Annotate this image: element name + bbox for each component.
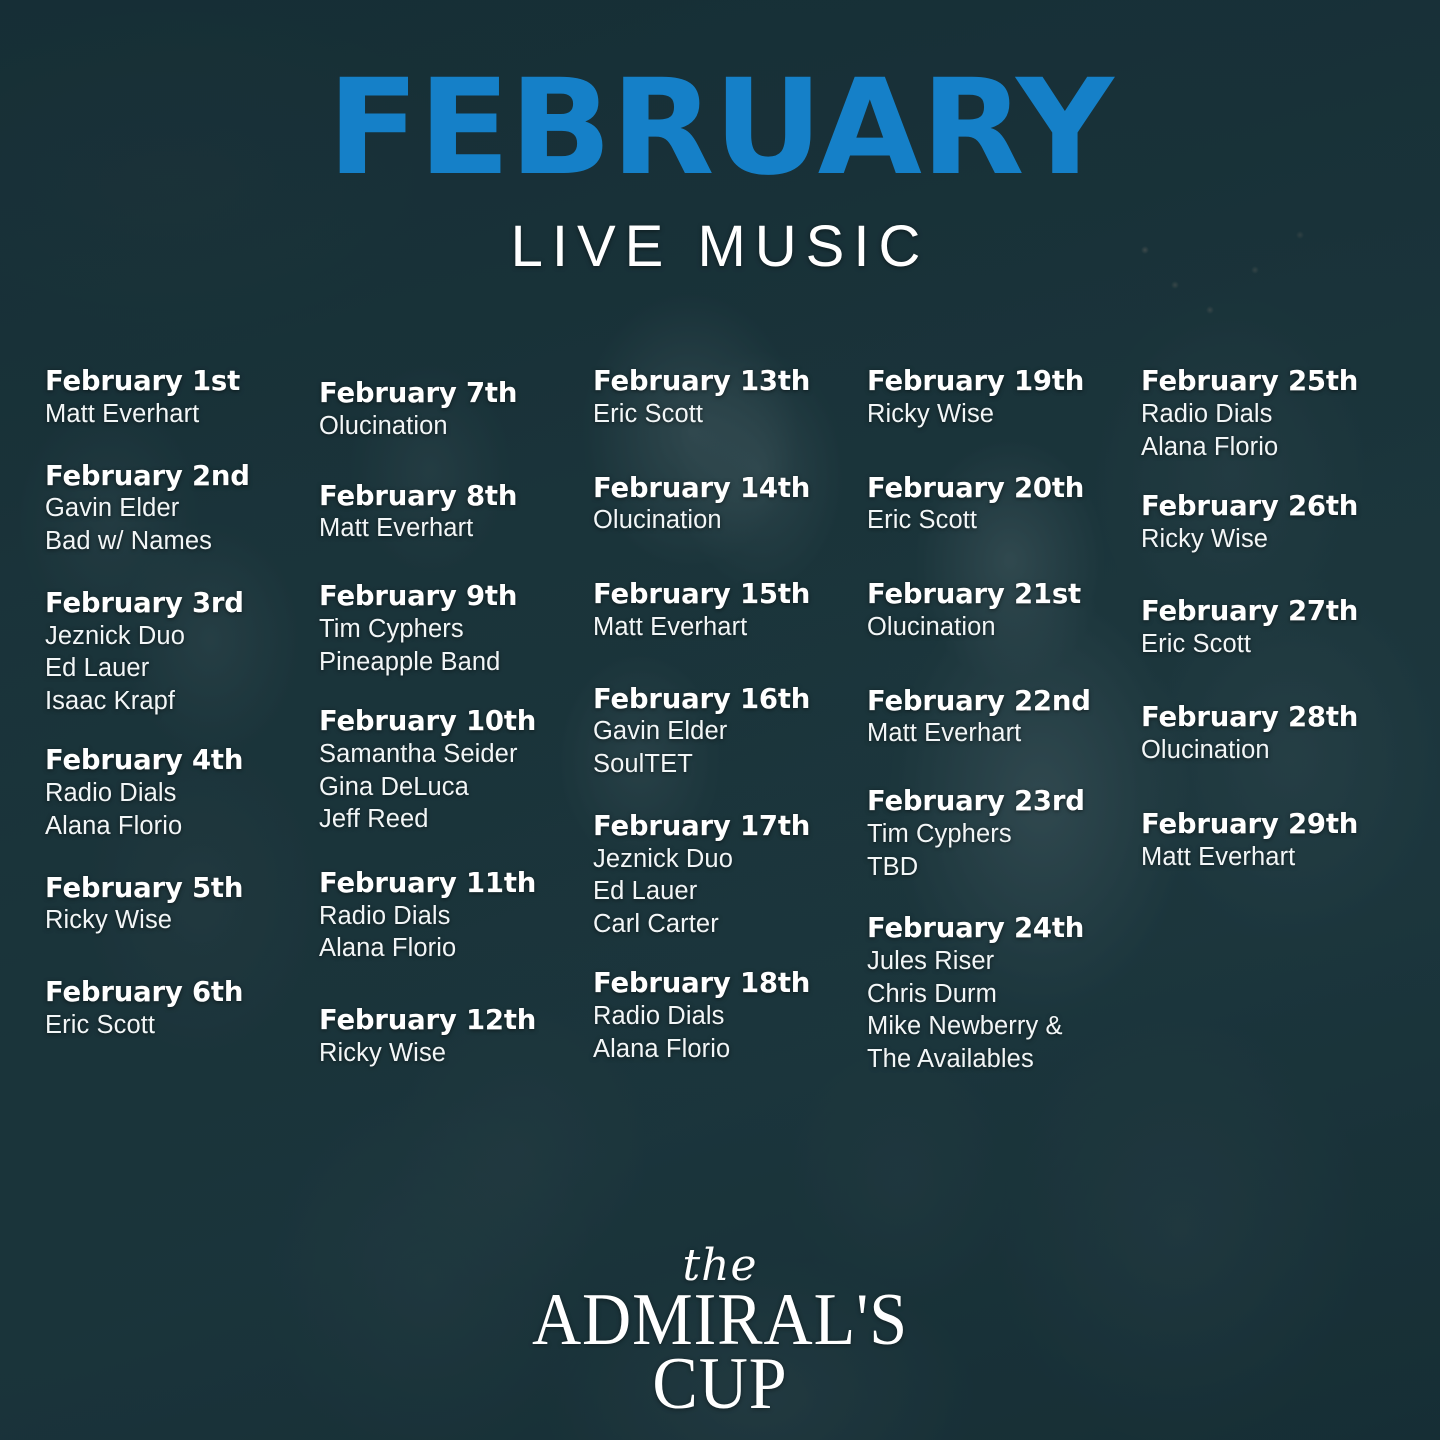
entry-act: Pineapple Band — [319, 646, 593, 679]
entry-act: Eric Scott — [593, 398, 867, 431]
entry-date: February 16th — [593, 684, 867, 716]
schedule-entry[interactable]: February 29thMatt Everhart — [1141, 809, 1415, 874]
schedule-entry[interactable]: February 17thJeznick DuoEd LauerCarl Car… — [593, 811, 867, 941]
schedule-entry[interactable]: February 25thRadio DialsAlana Florio — [1141, 366, 1415, 463]
entry-act: Matt Everhart — [593, 611, 867, 644]
entry-act: Chris Durm — [867, 978, 1141, 1011]
entry-date: February 5th — [45, 873, 319, 905]
entry-act: Radio Dials — [319, 900, 593, 933]
entry-act: Gavin Elder — [593, 715, 867, 748]
entry-act: Eric Scott — [867, 504, 1141, 537]
entry-date: February 18th — [593, 968, 867, 1000]
entry-act: Ricky Wise — [45, 904, 319, 937]
entry-date: February 10th — [319, 706, 593, 738]
entry-act: Bad w/ Names — [45, 525, 319, 558]
entry-act: TBD — [867, 851, 1141, 884]
schedule-entry[interactable]: February 13thEric Scott — [593, 366, 867, 431]
entry-act: Olucination — [593, 504, 867, 537]
entry-date: February 20th — [867, 473, 1141, 505]
entry-act: Jules Riser — [867, 945, 1141, 978]
schedule-entry[interactable]: February 4thRadio DialsAlana Florio — [45, 745, 319, 842]
schedule-entry[interactable]: February 9thTim CyphersPineapple Band — [319, 581, 593, 678]
schedule-entry[interactable]: February 15thMatt Everhart — [593, 579, 867, 644]
entry-act: Jeznick Duo — [593, 843, 867, 876]
entry-act: SoulTET — [593, 748, 867, 781]
entry-act: Matt Everhart — [319, 512, 593, 545]
entry-date: February 24th — [867, 913, 1141, 945]
schedule-entry[interactable]: February 12thRicky Wise — [319, 1005, 593, 1070]
entry-act: Radio Dials — [593, 1000, 867, 1033]
entry-date: February 3rd — [45, 588, 319, 620]
entry-date: February 19th — [867, 366, 1141, 398]
schedule-entry[interactable]: February 22ndMatt Everhart — [867, 686, 1141, 751]
schedule-entry[interactable]: February 14thOlucination — [593, 473, 867, 538]
page-title: FEBRUARY — [0, 62, 1440, 194]
entry-act: Isaac Krapf — [45, 685, 319, 718]
schedule-entry[interactable]: February 7thOlucination — [319, 378, 593, 443]
entry-act: Olucination — [319, 410, 593, 443]
entry-act: The Availables — [867, 1043, 1141, 1076]
entry-date: February 14th — [593, 473, 867, 505]
entry-act: Carl Carter — [593, 908, 867, 941]
entry-date: February 9th — [319, 581, 593, 613]
entry-date: February 21st — [867, 579, 1141, 611]
schedule-entry[interactable]: February 21stOlucination — [867, 579, 1141, 644]
page-subtitle: LIVE MUSIC — [0, 218, 1440, 276]
schedule-entry[interactable]: February 8thMatt Everhart — [319, 481, 593, 546]
schedule-column-5: February 25thRadio DialsAlana FlorioFebr… — [1141, 366, 1415, 1076]
schedule-entry[interactable]: February 24thJules RiserChris DurmMike N… — [867, 913, 1141, 1075]
schedule-column-3: February 13thEric ScottFebruary 14thOluc… — [593, 366, 867, 1076]
entry-date: February 26th — [1141, 491, 1415, 523]
entry-act: Ed Lauer — [593, 875, 867, 908]
schedule-entry[interactable]: February 23rdTim CyphersTBD — [867, 786, 1141, 883]
entry-act: Jeznick Duo — [45, 620, 319, 653]
entry-act: Ricky Wise — [319, 1037, 593, 1070]
entry-date: February 6th — [45, 977, 319, 1009]
entry-date: February 11th — [319, 868, 593, 900]
schedule-entry[interactable]: February 19thRicky Wise — [867, 366, 1141, 431]
entry-act: Gavin Elder — [45, 492, 319, 525]
entry-date: February 29th — [1141, 809, 1415, 841]
schedule-entry[interactable]: February 20thEric Scott — [867, 473, 1141, 538]
schedule-entry[interactable]: February 2ndGavin ElderBad w/ Names — [45, 461, 319, 558]
header: FEBRUARY LIVE MUSIC — [0, 0, 1440, 276]
entry-date: February 22nd — [867, 686, 1141, 718]
schedule-entry[interactable]: February 18thRadio DialsAlana Florio — [593, 968, 867, 1065]
venue-logo: the ADMIRAL'S CUP — [0, 1245, 1440, 1419]
schedule-entry[interactable]: February 3rdJeznick DuoEd LauerIsaac Kra… — [45, 588, 319, 718]
logo-cup-text: CUP — [58, 1349, 1383, 1419]
entry-act: Matt Everhart — [1141, 841, 1415, 874]
entry-act: Ricky Wise — [867, 398, 1141, 431]
entry-date: February 8th — [319, 481, 593, 513]
entry-act: Radio Dials — [45, 777, 319, 810]
entry-act: Alana Florio — [593, 1033, 867, 1066]
schedule-entry[interactable]: February 28thOlucination — [1141, 702, 1415, 767]
entry-act: Alana Florio — [319, 932, 593, 965]
entry-act: Alana Florio — [45, 810, 319, 843]
entry-date: February 28th — [1141, 702, 1415, 734]
entry-date: February 12th — [319, 1005, 593, 1037]
schedule-entry[interactable]: February 6thEric Scott — [45, 977, 319, 1042]
entry-act: Eric Scott — [1141, 628, 1415, 661]
schedule-column-2: February 7thOlucinationFebruary 8thMatt … — [319, 366, 593, 1076]
entry-date: February 27th — [1141, 596, 1415, 628]
entry-act: Ed Lauer — [45, 652, 319, 685]
schedule-grid: February 1stMatt EverhartFebruary 2ndGav… — [45, 366, 1415, 1076]
entry-date: February 13th — [593, 366, 867, 398]
entry-date: February 1st — [45, 366, 319, 398]
entry-act: Radio Dials — [1141, 398, 1415, 431]
schedule-entry[interactable]: February 26thRicky Wise — [1141, 491, 1415, 556]
schedule-entry[interactable]: February 5thRicky Wise — [45, 873, 319, 938]
entry-date: February 15th — [593, 579, 867, 611]
schedule-entry[interactable]: February 10thSamantha SeiderGina DeLucaJ… — [319, 706, 593, 836]
entry-date: February 17th — [593, 811, 867, 843]
entry-date: February 25th — [1141, 366, 1415, 398]
schedule-entry[interactable]: February 1stMatt Everhart — [45, 366, 319, 431]
schedule-column-4: February 19thRicky WiseFebruary 20thEric… — [867, 366, 1141, 1076]
entry-act: Mike Newberry & — [867, 1010, 1141, 1043]
schedule-column-1: February 1stMatt EverhartFebruary 2ndGav… — [45, 366, 319, 1076]
entry-act: Tim Cyphers — [319, 613, 593, 646]
entry-act: Olucination — [867, 611, 1141, 644]
entry-act: Gina DeLuca — [319, 771, 593, 804]
entry-date: February 4th — [45, 745, 319, 777]
schedule-entry[interactable]: February 16thGavin ElderSoulTET — [593, 684, 867, 781]
entry-act: Samantha Seider — [319, 738, 593, 771]
entry-act: Tim Cyphers — [867, 818, 1141, 851]
entry-date: February 2nd — [45, 461, 319, 493]
entry-date: February 23rd — [867, 786, 1141, 818]
entry-date: February 7th — [319, 378, 593, 410]
schedule-entry[interactable]: February 11thRadio DialsAlana Florio — [319, 868, 593, 965]
entry-act: Alana Florio — [1141, 431, 1415, 464]
entry-act: Matt Everhart — [45, 398, 319, 431]
schedule-entry[interactable]: February 27thEric Scott — [1141, 596, 1415, 661]
entry-act: Eric Scott — [45, 1009, 319, 1042]
entry-act: Matt Everhart — [867, 717, 1141, 750]
entry-act: Jeff Reed — [319, 803, 593, 836]
entry-act: Ricky Wise — [1141, 523, 1415, 556]
entry-act: Olucination — [1141, 734, 1415, 767]
